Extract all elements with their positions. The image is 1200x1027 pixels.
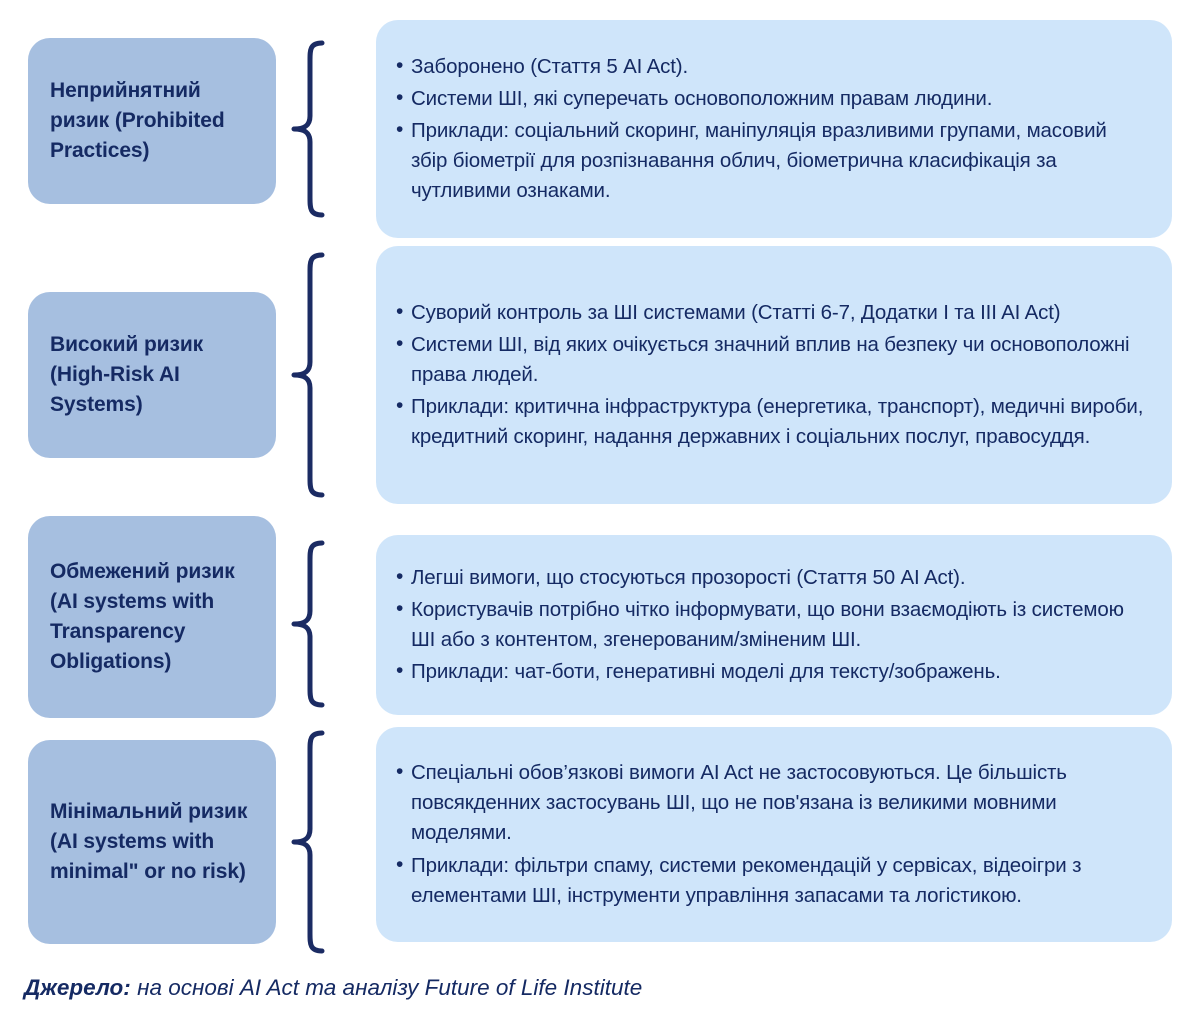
risk-content-box-3: Легші вимоги, що стосуються прозорості (… [376,535,1172,715]
bullet-list-4: Спеціальні обов’язкові вимоги AI Act не … [396,758,1146,911]
source-label: Джерело: [24,975,131,1000]
risk-label-box-3: Обмежений ризик (AI systems with Transpa… [28,516,276,718]
risk-label-box-1: Неприйнятний ризик (Prohibited Practices… [28,38,276,204]
source-footer: Джерело: на основі AI Act та аналізу Fut… [24,975,1174,1001]
list-item: Спеціальні обов’язкові вимоги AI Act не … [396,758,1146,848]
source-text: на основі AI Act та аналізу Future of Li… [131,975,642,1000]
list-item: Легші вимоги, що стосуються прозорості (… [396,563,1146,593]
risk-label-box-2: Високий ризик (High-Risk AI Systems) [28,292,276,458]
risk-tier-diagram: Неприйнятний ризик (Prohibited Practices… [0,0,1200,1027]
list-item: Приклади: чат-боти, генеративні моделі д… [396,657,1146,687]
risk-label-text-3: Обмежений ризик (AI systems with Transpa… [50,557,254,676]
risk-label-text-4: Мінімальний ризик (AI systems with minim… [50,797,254,886]
list-item: Приклади: критична інфраструктура (енерг… [396,392,1146,452]
brace-4 [288,730,332,954]
bullet-list-3: Легші вимоги, що стосуються прозорості (… [396,563,1146,688]
brace-2 [288,252,332,498]
brace-3 [288,540,332,708]
list-item: Приклади: фільтри спаму, системи рекомен… [396,851,1146,911]
risk-content-box-4: Спеціальні обов’язкові вимоги AI Act не … [376,727,1172,942]
list-item: Користувачів потрібно чітко інформувати,… [396,595,1146,655]
brace-1 [288,40,332,218]
list-item: Приклади: соціальний скоринг, маніпуляці… [396,116,1146,206]
risk-label-text-2: Високий ризик (High-Risk AI Systems) [50,330,254,419]
list-item: Заборонено (Стаття 5 AI Act). [396,52,1146,82]
risk-content-box-2: Суворий контроль за ШІ системами (Статті… [376,246,1172,504]
list-item: Суворий контроль за ШІ системами (Статті… [396,298,1146,328]
list-item: Системи ШІ, від яких очікується значний … [396,330,1146,390]
risk-label-text-1: Неприйнятний ризик (Prohibited Practices… [50,76,254,165]
risk-label-box-4: Мінімальний ризик (AI systems with minim… [28,740,276,944]
bullet-list-1: Заборонено (Стаття 5 AI Act). Системи ШІ… [396,52,1146,207]
bullet-list-2: Суворий контроль за ШІ системами (Статті… [396,298,1146,453]
list-item: Системи ШІ, які суперечать основоположни… [396,84,1146,114]
risk-content-box-1: Заборонено (Стаття 5 AI Act). Системи ШІ… [376,20,1172,238]
